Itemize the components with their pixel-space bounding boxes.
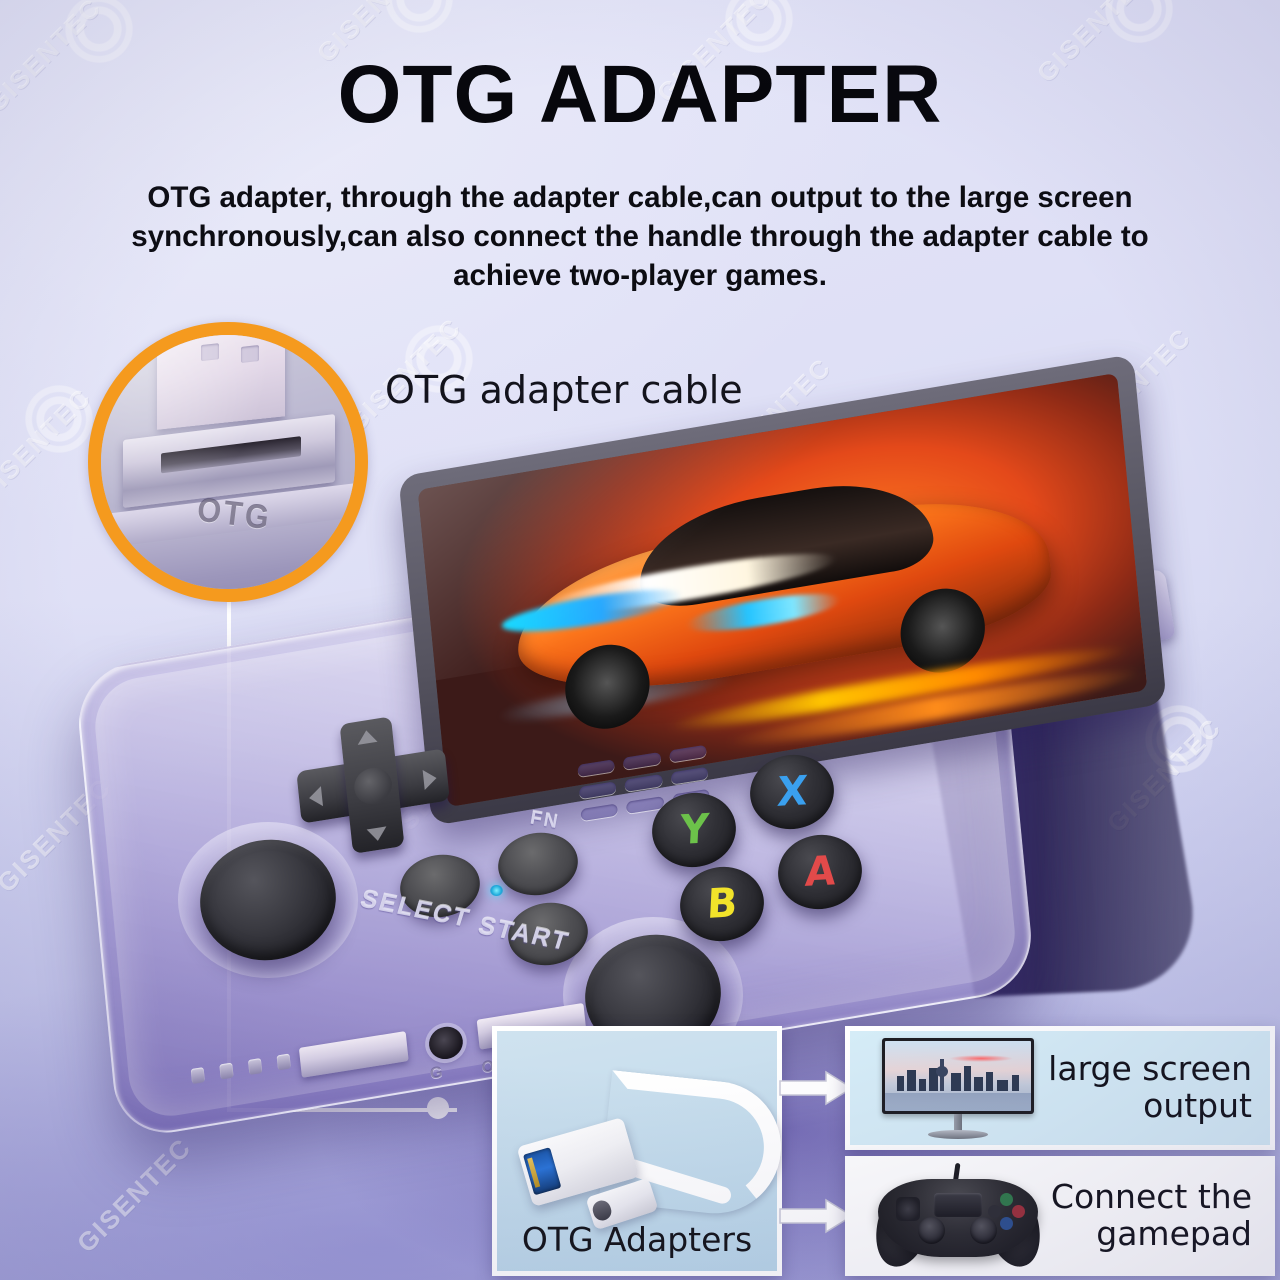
panel-otg-adapter-label: OTG Adapters [522,1220,752,1271]
background-vignette [0,0,1280,1280]
